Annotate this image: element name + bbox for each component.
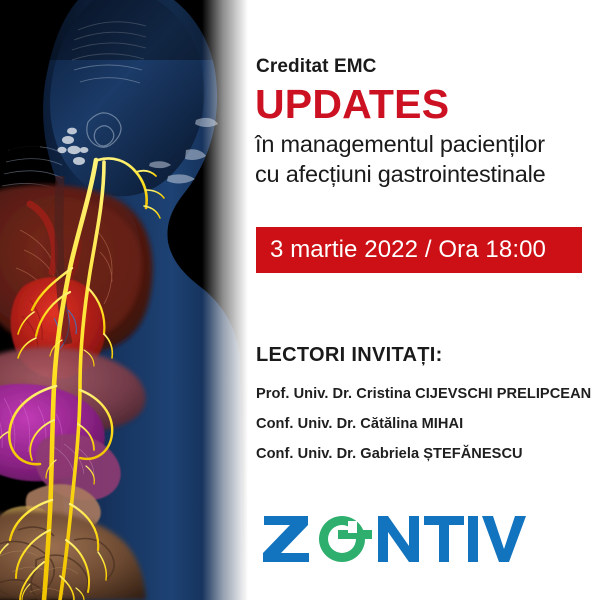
subtitle-line-1: în managementul pacienților (255, 130, 600, 160)
event-datetime-text: 3 martie 2022 / Ora 18:00 (256, 236, 546, 264)
lecturers-list: Prof. Univ. Dr. Cristina CIJEVSCHI PRELI… (256, 386, 600, 476)
list-item: Conf. Univ. Dr. Cătălina MIHAI (256, 416, 600, 432)
content-column: Creditat EMC UPDATES în managementul pac… (256, 0, 600, 600)
list-item: Prof. Univ. Dr. Cristina CIJEVSCHI PRELI… (256, 386, 600, 402)
date-banner: 3 martie 2022 / Ora 18:00 (256, 227, 582, 273)
subtitle-line-2: cu afecțiuni gastrointestinale (255, 160, 600, 190)
subtitle: în managementul pacienților cu afecțiuni… (255, 130, 600, 189)
eyebrow-credit-label: Creditat EMC (256, 56, 377, 78)
list-item: Conf. Univ. Dr. Gabriela ȘTEFĂNESCU (256, 446, 600, 462)
poster-root: Creditat EMC UPDATES în managementul pac… (0, 0, 600, 600)
lecturers-heading: LECTORI INVITAȚI: (256, 344, 443, 367)
zentiva-logo-svg (262, 512, 540, 566)
anatomy-artwork-svg (0, 0, 248, 600)
anatomical-illustration (0, 0, 248, 600)
zentiva-logo (262, 512, 540, 566)
page-title: UPDATES (255, 84, 449, 125)
